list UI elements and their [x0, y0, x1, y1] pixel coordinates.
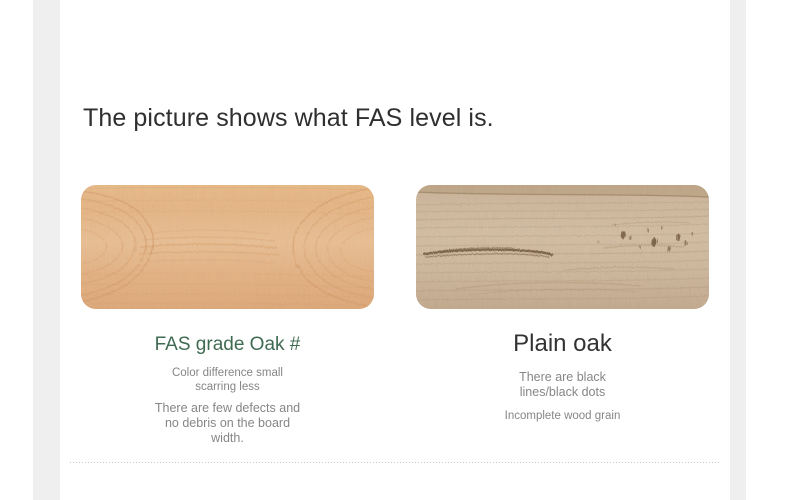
page-title: The picture shows what FAS level is.	[83, 104, 494, 133]
content-card: The picture shows what FAS level is.	[60, 28, 730, 500]
fas-note-secondary-line-3: width.	[155, 431, 300, 446]
fas-note-secondary: There are few defects and no debris on t…	[155, 394, 300, 445]
product-comparison: FAS grade Oak # Color difference small s…	[60, 185, 730, 445]
section-divider	[69, 462, 721, 463]
plain-note-primary: There are black lines/black dots	[519, 358, 606, 400]
plain-note-primary-line-1: There are black	[519, 370, 606, 385]
product-column-plain: Plain oak There are black lines/black do…	[395, 185, 730, 445]
plain-note-primary-line-2: lines/black dots	[519, 385, 606, 400]
fas-oak-grain-illustration	[81, 185, 374, 309]
plain-note-secondary: Incomplete wood grain	[505, 400, 621, 424]
fas-grade-oak-board-photo[interactable]	[81, 185, 374, 309]
plain-oak-grain-illustration	[416, 185, 709, 309]
plain-note-secondary-line-1: Incomplete wood grain	[505, 410, 621, 424]
page-root: The picture shows what FAS level is.	[0, 0, 790, 500]
right-gutter	[730, 0, 746, 500]
product-column-fas: FAS grade Oak # Color difference small s…	[60, 185, 395, 445]
plain-oak-title: Plain oak	[513, 330, 612, 358]
fas-note-primary: Color difference small scarring less	[172, 356, 283, 394]
plain-oak-board-photo[interactable]	[416, 185, 709, 309]
fas-note-primary-line-1: Color difference small	[172, 367, 283, 381]
fas-grade-oak-title: FAS grade Oak #	[155, 334, 301, 356]
fas-note-secondary-line-1: There are few defects and	[155, 401, 300, 416]
fas-note-secondary-line-2: no debris on the board	[155, 416, 300, 431]
fas-note-primary-line-2: scarring less	[172, 381, 283, 395]
left-gutter	[33, 0, 60, 500]
